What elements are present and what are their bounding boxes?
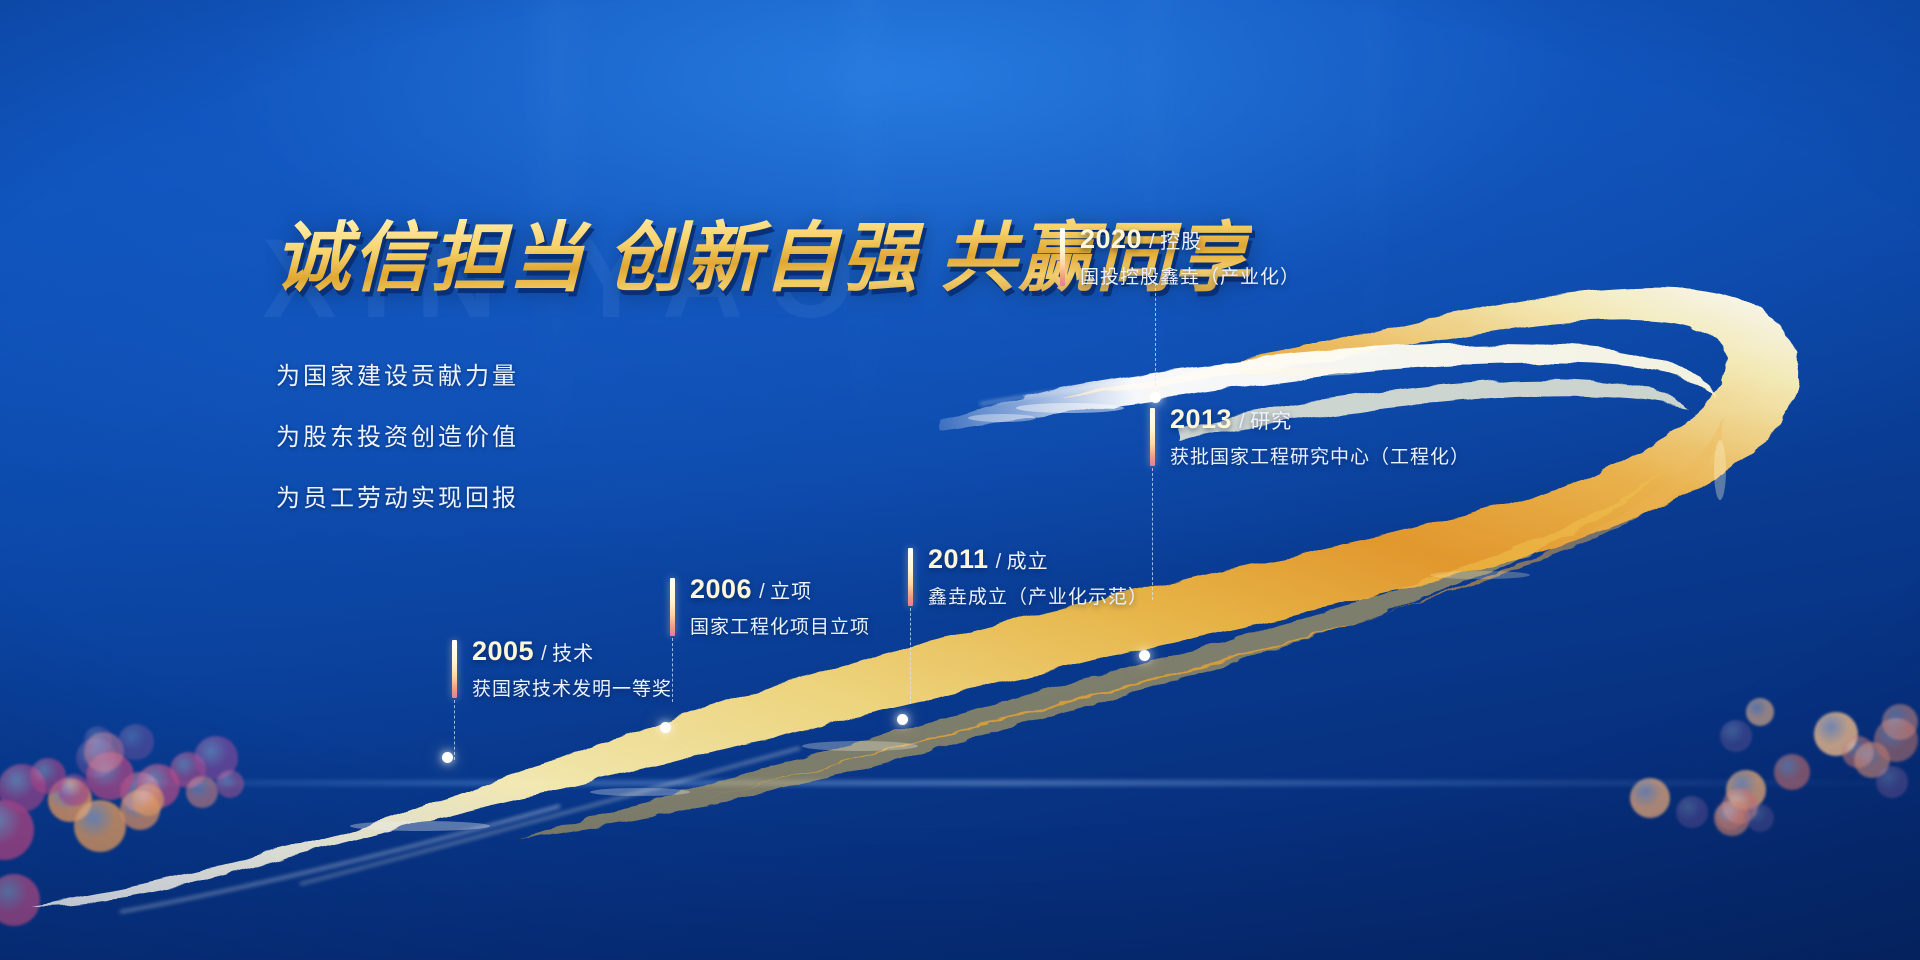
banner-canvas: XIN YAO 诚信担当 创新自强 共赢同享 为国家建设贡献力量 为股东投资创造… [0,0,1920,960]
background-vignette [0,0,1920,960]
